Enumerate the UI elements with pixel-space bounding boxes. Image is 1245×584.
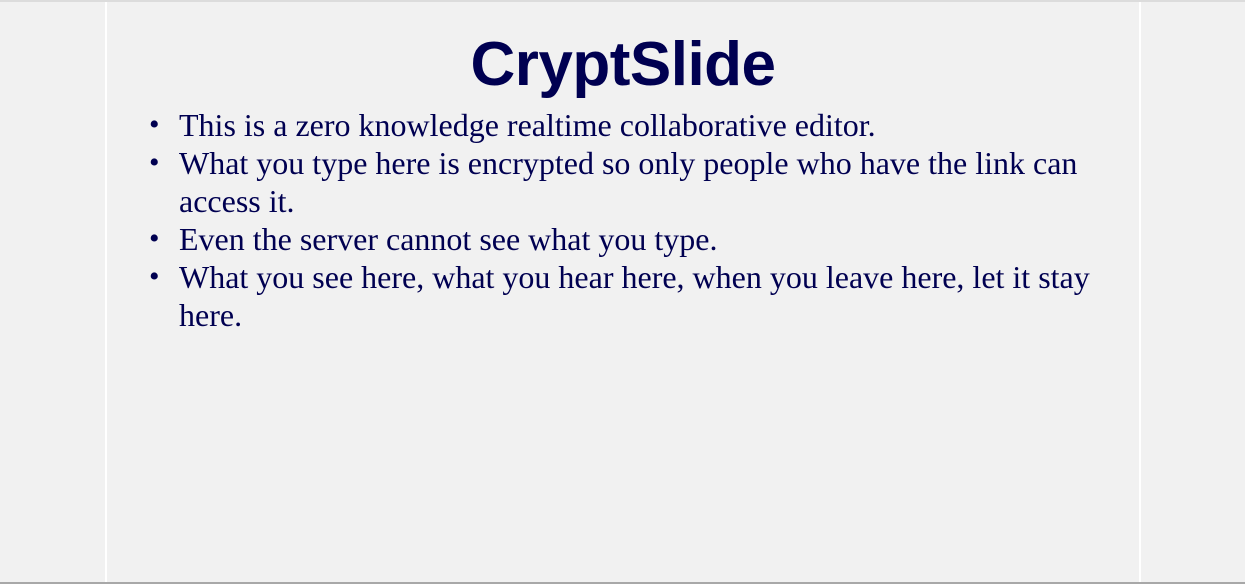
slide-content-area[interactable]: CryptSlide • This is a zero knowledge re… <box>107 2 1139 582</box>
slide-canvas[interactable]: CryptSlide • This is a zero knowledge re… <box>105 2 1141 582</box>
bullet-item[interactable]: • This is a zero knowledge realtime coll… <box>107 106 1139 144</box>
page-surface: CryptSlide • This is a zero knowledge re… <box>0 2 1245 582</box>
bullet-item-text: What you type here is encrypted so only … <box>179 144 1095 220</box>
slide-title[interactable]: CryptSlide <box>107 2 1139 96</box>
bullet-item[interactable]: • What you see here, what you hear here,… <box>107 258 1139 334</box>
bullet-point-icon: • <box>149 144 163 182</box>
bullet-point-icon: • <box>149 258 163 296</box>
bullet-item[interactable]: • What you type here is encrypted so onl… <box>107 144 1139 220</box>
bullet-item-text: What you see here, what you hear here, w… <box>179 258 1095 334</box>
bullet-item-text: This is a zero knowledge realtime collab… <box>179 106 1095 144</box>
bullet-item-text: Even the server cannot see what you type… <box>179 220 1095 258</box>
slide-bullet-list[interactable]: • This is a zero knowledge realtime coll… <box>107 96 1139 334</box>
bullet-item[interactable]: • Even the server cannot see what you ty… <box>107 220 1139 258</box>
bullet-point-icon: • <box>149 220 163 258</box>
bullet-point-icon: • <box>149 106 163 144</box>
